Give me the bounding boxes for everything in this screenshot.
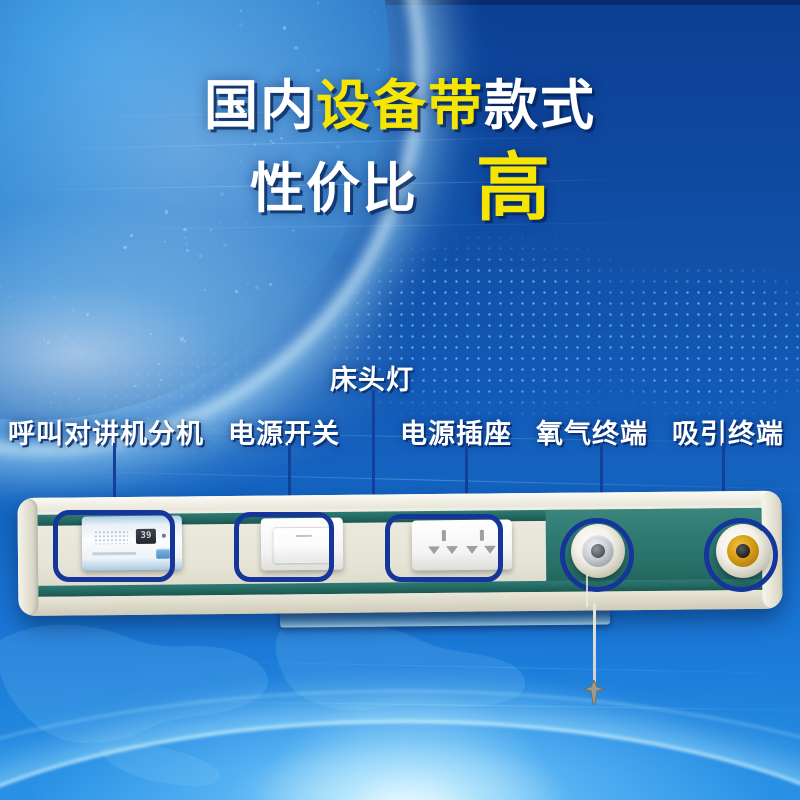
highlight-box-socket	[385, 514, 503, 582]
callout-label-suction-terminal: 吸引终端	[672, 412, 784, 451]
oxygen-hanging-wire	[586, 575, 588, 607]
callout-label-power-socket: 电源插座	[400, 412, 512, 451]
callout-label-call-intercom: 呼叫对讲机分机	[8, 412, 204, 451]
highlight-circle-suction	[704, 518, 778, 592]
highlight-box-switch	[234, 512, 334, 582]
panel-end-cap-left	[17, 498, 38, 616]
advertisement-banner: 国内设备带款式 性价比高 呼叫对讲机分机电源开关床头灯电源插座氧气终端吸引终端 …	[0, 0, 800, 800]
callout-label-power-switch: 电源开关	[228, 412, 340, 451]
callout-label-oxygen-terminal: 氧气终端	[536, 412, 648, 451]
callout-layer: 呼叫对讲机分机电源开关床头灯电源插座氧气终端吸引终端	[0, 0, 800, 800]
highlight-box-intercom	[53, 510, 175, 582]
pull-cord-line	[593, 604, 596, 690]
highlight-circle-oxygen	[560, 518, 634, 592]
pull-cord-hook-icon	[580, 680, 608, 710]
